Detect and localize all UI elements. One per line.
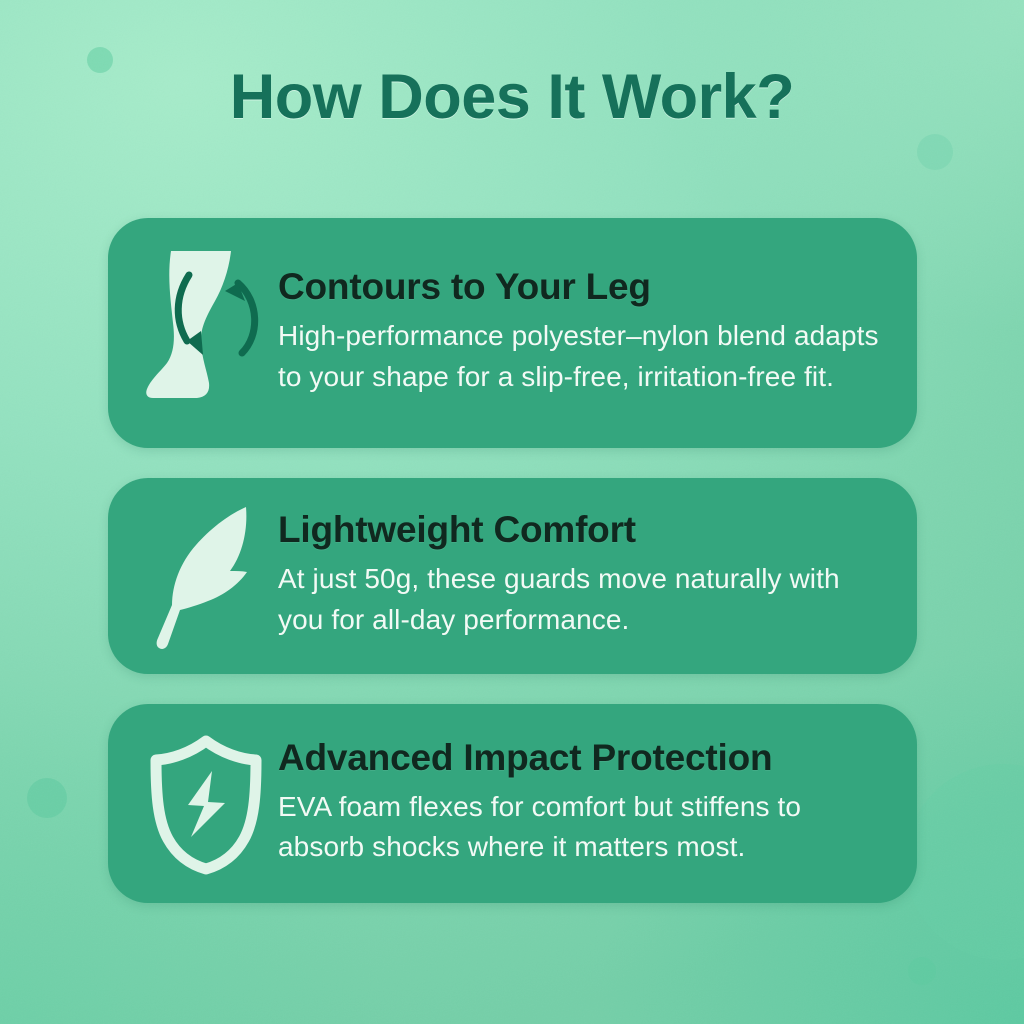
card-text-block: Lightweight Comfort At just 50g, these g… (276, 511, 917, 641)
feather-icon (150, 501, 262, 651)
infographic-poster: How Does It Work? (0, 0, 1024, 1024)
card-description: At just 50g, these guards move naturally… (278, 559, 887, 641)
deco-circle-left-lower (27, 778, 67, 818)
page-title: How Does It Work? (0, 66, 1024, 129)
shield-bolt-icon (144, 733, 268, 875)
card-text-block: Advanced Impact Protection EVA foam flex… (276, 739, 917, 869)
card-description: EVA foam flexes for comfort but stiffens… (278, 787, 887, 869)
feature-card-list: Contours to Your Leg High-performance po… (108, 218, 917, 903)
feature-card-impact[interactable]: Advanced Impact Protection EVA foam flex… (108, 704, 917, 903)
card-description: High-performance polyester–nylon blend a… (278, 316, 887, 398)
card-heading: Advanced Impact Protection (278, 739, 887, 778)
feature-card-contours[interactable]: Contours to Your Leg High-performance po… (108, 218, 917, 448)
card-heading: Lightweight Comfort (278, 511, 887, 550)
deco-circle-top-right (917, 134, 953, 170)
leg-contour-icon (143, 243, 269, 423)
deco-circle-bottom-right (905, 764, 1024, 960)
card-icon-slot (108, 704, 276, 903)
feature-card-lightweight[interactable]: Lightweight Comfort At just 50g, these g… (108, 478, 917, 674)
deco-circle-bottom-small (908, 957, 936, 985)
card-icon-slot (108, 478, 276, 674)
card-text-block: Contours to Your Leg High-performance po… (276, 268, 917, 398)
card-icon-slot (108, 218, 276, 448)
card-heading: Contours to Your Leg (278, 268, 887, 307)
